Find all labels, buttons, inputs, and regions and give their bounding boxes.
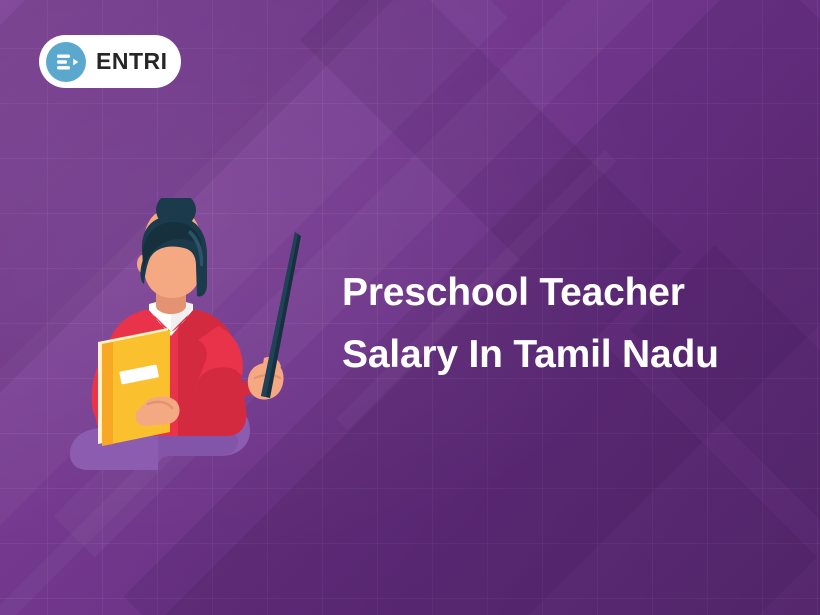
entri-play-e-icon bbox=[46, 42, 86, 82]
entri-wordmark: ENTRI bbox=[96, 50, 168, 73]
banner-canvas: ENTRI Preschool Teacher Salary In Tamil … bbox=[0, 0, 820, 615]
entri-logo[interactable]: ENTRI bbox=[39, 35, 181, 88]
title-line-2: Salary In Tamil Nadu bbox=[342, 324, 772, 386]
teacher-book bbox=[98, 328, 170, 446]
title-line-1: Preschool Teacher bbox=[342, 262, 772, 324]
page-title: Preschool Teacher Salary In Tamil Nadu bbox=[342, 262, 772, 386]
teacher-illustration bbox=[50, 198, 320, 478]
